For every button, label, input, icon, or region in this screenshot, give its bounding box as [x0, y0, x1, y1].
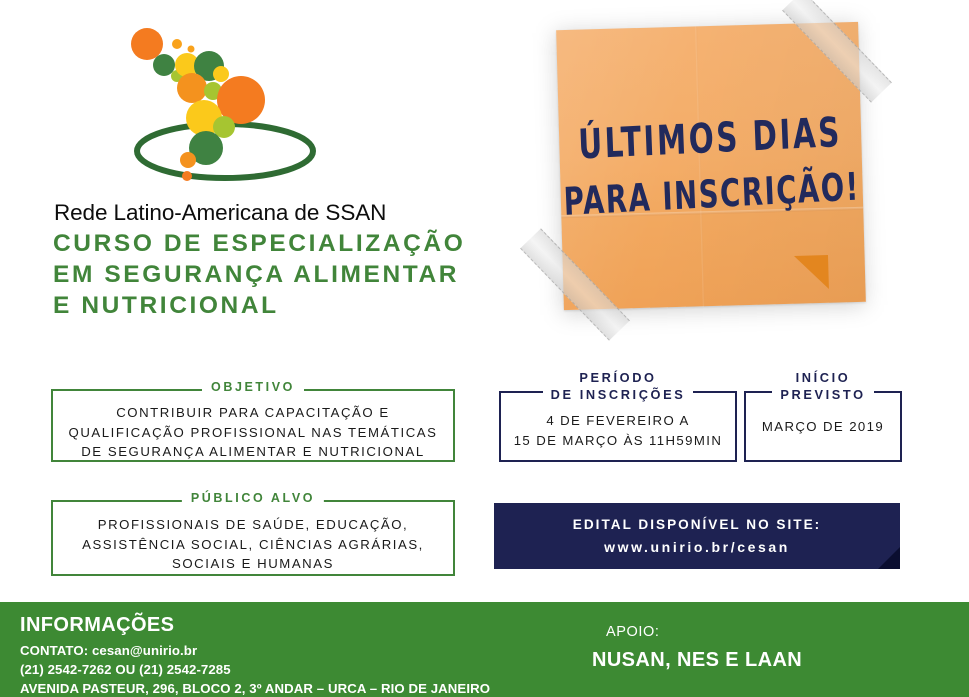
footer-info-block: INFORMAÇÕES CONTATO: cesan@unirio.br (21… [20, 614, 490, 697]
brand-name: Rede Latino-Americana de SSAN [54, 200, 386, 226]
objetivo-line-1: CONTRIBUIR PARA CAPACITAÇÃO E [53, 403, 453, 423]
periodo-title: PERÍODO DE INSCRIÇÕES [499, 369, 737, 403]
periodo-title-line-1: PERÍODO [499, 369, 737, 386]
objetivo-box: OBJETIVO CONTRIBUIR PARA CAPACITAÇÃO E Q… [51, 389, 455, 462]
publico-alvo-line-2: ASSISTÊNCIA SOCIAL, CIÊNCIAS AGRÁRIAS, [53, 535, 453, 555]
page-title: CURSO DE ESPECIALIZAÇÃO EM SEGURANÇA ALI… [53, 228, 483, 321]
publico-alvo-body: PROFISSIONAIS DE SAÚDE, EDUCAÇÃO, ASSIST… [53, 515, 453, 574]
objetivo-line-3: DE SEGURANÇA ALIMENTAR E NUTRICIONAL [53, 442, 453, 462]
course-title-line-2: EM SEGURANÇA ALIMENTAR [53, 259, 483, 290]
publico-alvo-line-1: PROFISSIONAIS DE SAÚDE, EDUCAÇÃO, [53, 515, 453, 535]
footer-phones: (21) 2542-7262 OU (21) 2542-7285 [20, 660, 490, 679]
sticky-note: ÚLTIMOS DIAS PARA INSCRIÇÃO! [497, 8, 927, 338]
apoio-names: NUSAN, NES E LAAN [592, 649, 802, 672]
publico-alvo-legend: PÚBLICO ALVO [182, 491, 324, 505]
inicio-previsto-box: INÍCIO PREVISTO MARÇO DE 2019 [744, 369, 902, 462]
objetivo-line-2: QUALIFICAÇÃO PROFISSIONAL NAS TEMÁTICAS [53, 423, 453, 443]
course-title-line-3: E NUTRICIONAL [53, 290, 483, 321]
inicio-content: MARÇO DE 2019 [744, 417, 902, 437]
footer-apoio-block: APOIO: NUSAN, NES E LAAN [592, 624, 802, 672]
footer-contact[interactable]: CONTATO: cesan@unirio.br [20, 641, 490, 660]
periodo-content-line-2: 15 DE MARÇO ÀS 11H59MIN [499, 431, 737, 451]
apoio-label: APOIO: [606, 624, 802, 640]
rede-latino-americana-ssan-logo-icon [115, 18, 335, 183]
objetivo-body: CONTRIBUIR PARA CAPACITAÇÃO E QUALIFICAÇ… [53, 403, 453, 462]
periodo-title-line-2: DE INSCRIÇÕES [543, 386, 694, 403]
banner-folded-corner [878, 547, 900, 569]
objetivo-legend: OBJETIVO [202, 380, 304, 394]
course-title-line-1: CURSO DE ESPECIALIZAÇÃO [53, 228, 483, 259]
edital-banner-url[interactable]: www.unirio.br/cesan [604, 539, 790, 555]
publico-alvo-box: PÚBLICO ALVO PROFISSIONAIS DE SAÚDE, EDU… [51, 500, 455, 576]
publico-alvo-line-3: SOCIAIS E HUMANAS [53, 554, 453, 574]
inicio-title-line-2: PREVISTO [772, 386, 873, 403]
periodo-content: 4 DE FEVEREIRO A 15 DE MARÇO ÀS 11H59MIN [499, 411, 737, 450]
edital-banner-label: EDITAL DISPONÍVEL NO SITE: [573, 517, 821, 532]
logo-block: Rede Latino-Americana de SSAN [40, 18, 440, 218]
informacoes-heading: INFORMAÇÕES [20, 614, 490, 637]
sticky-note-line-2: PARA INSCRIÇÃO! [563, 164, 861, 224]
inicio-title: INÍCIO PREVISTO [744, 369, 902, 403]
periodo-inscricoes-box: PERÍODO DE INSCRIÇÕES 4 DE FEVEREIRO A 1… [499, 369, 737, 462]
footer-address: AVENIDA PASTEUR, 296, BLOCO 2, 3º ANDAR … [20, 679, 490, 697]
footer: INFORMAÇÕES CONTATO: cesan@unirio.br (21… [0, 602, 969, 697]
inicio-title-line-1: INÍCIO [744, 369, 902, 386]
sticky-note-text: ÚLTIMOS DIAS PARA INSCRIÇÃO! [556, 22, 866, 310]
periodo-content-line-1: 4 DE FEVEREIRO A [499, 411, 737, 431]
edital-banner[interactable]: EDITAL DISPONÍVEL NO SITE: www.unirio.br… [494, 503, 900, 569]
sticky-note-line-1: ÚLTIMOS DIAS [578, 109, 843, 169]
inicio-content-line-1: MARÇO DE 2019 [744, 417, 902, 437]
poster-root: Rede Latino-Americana de SSAN CURSO DE E… [0, 0, 969, 697]
